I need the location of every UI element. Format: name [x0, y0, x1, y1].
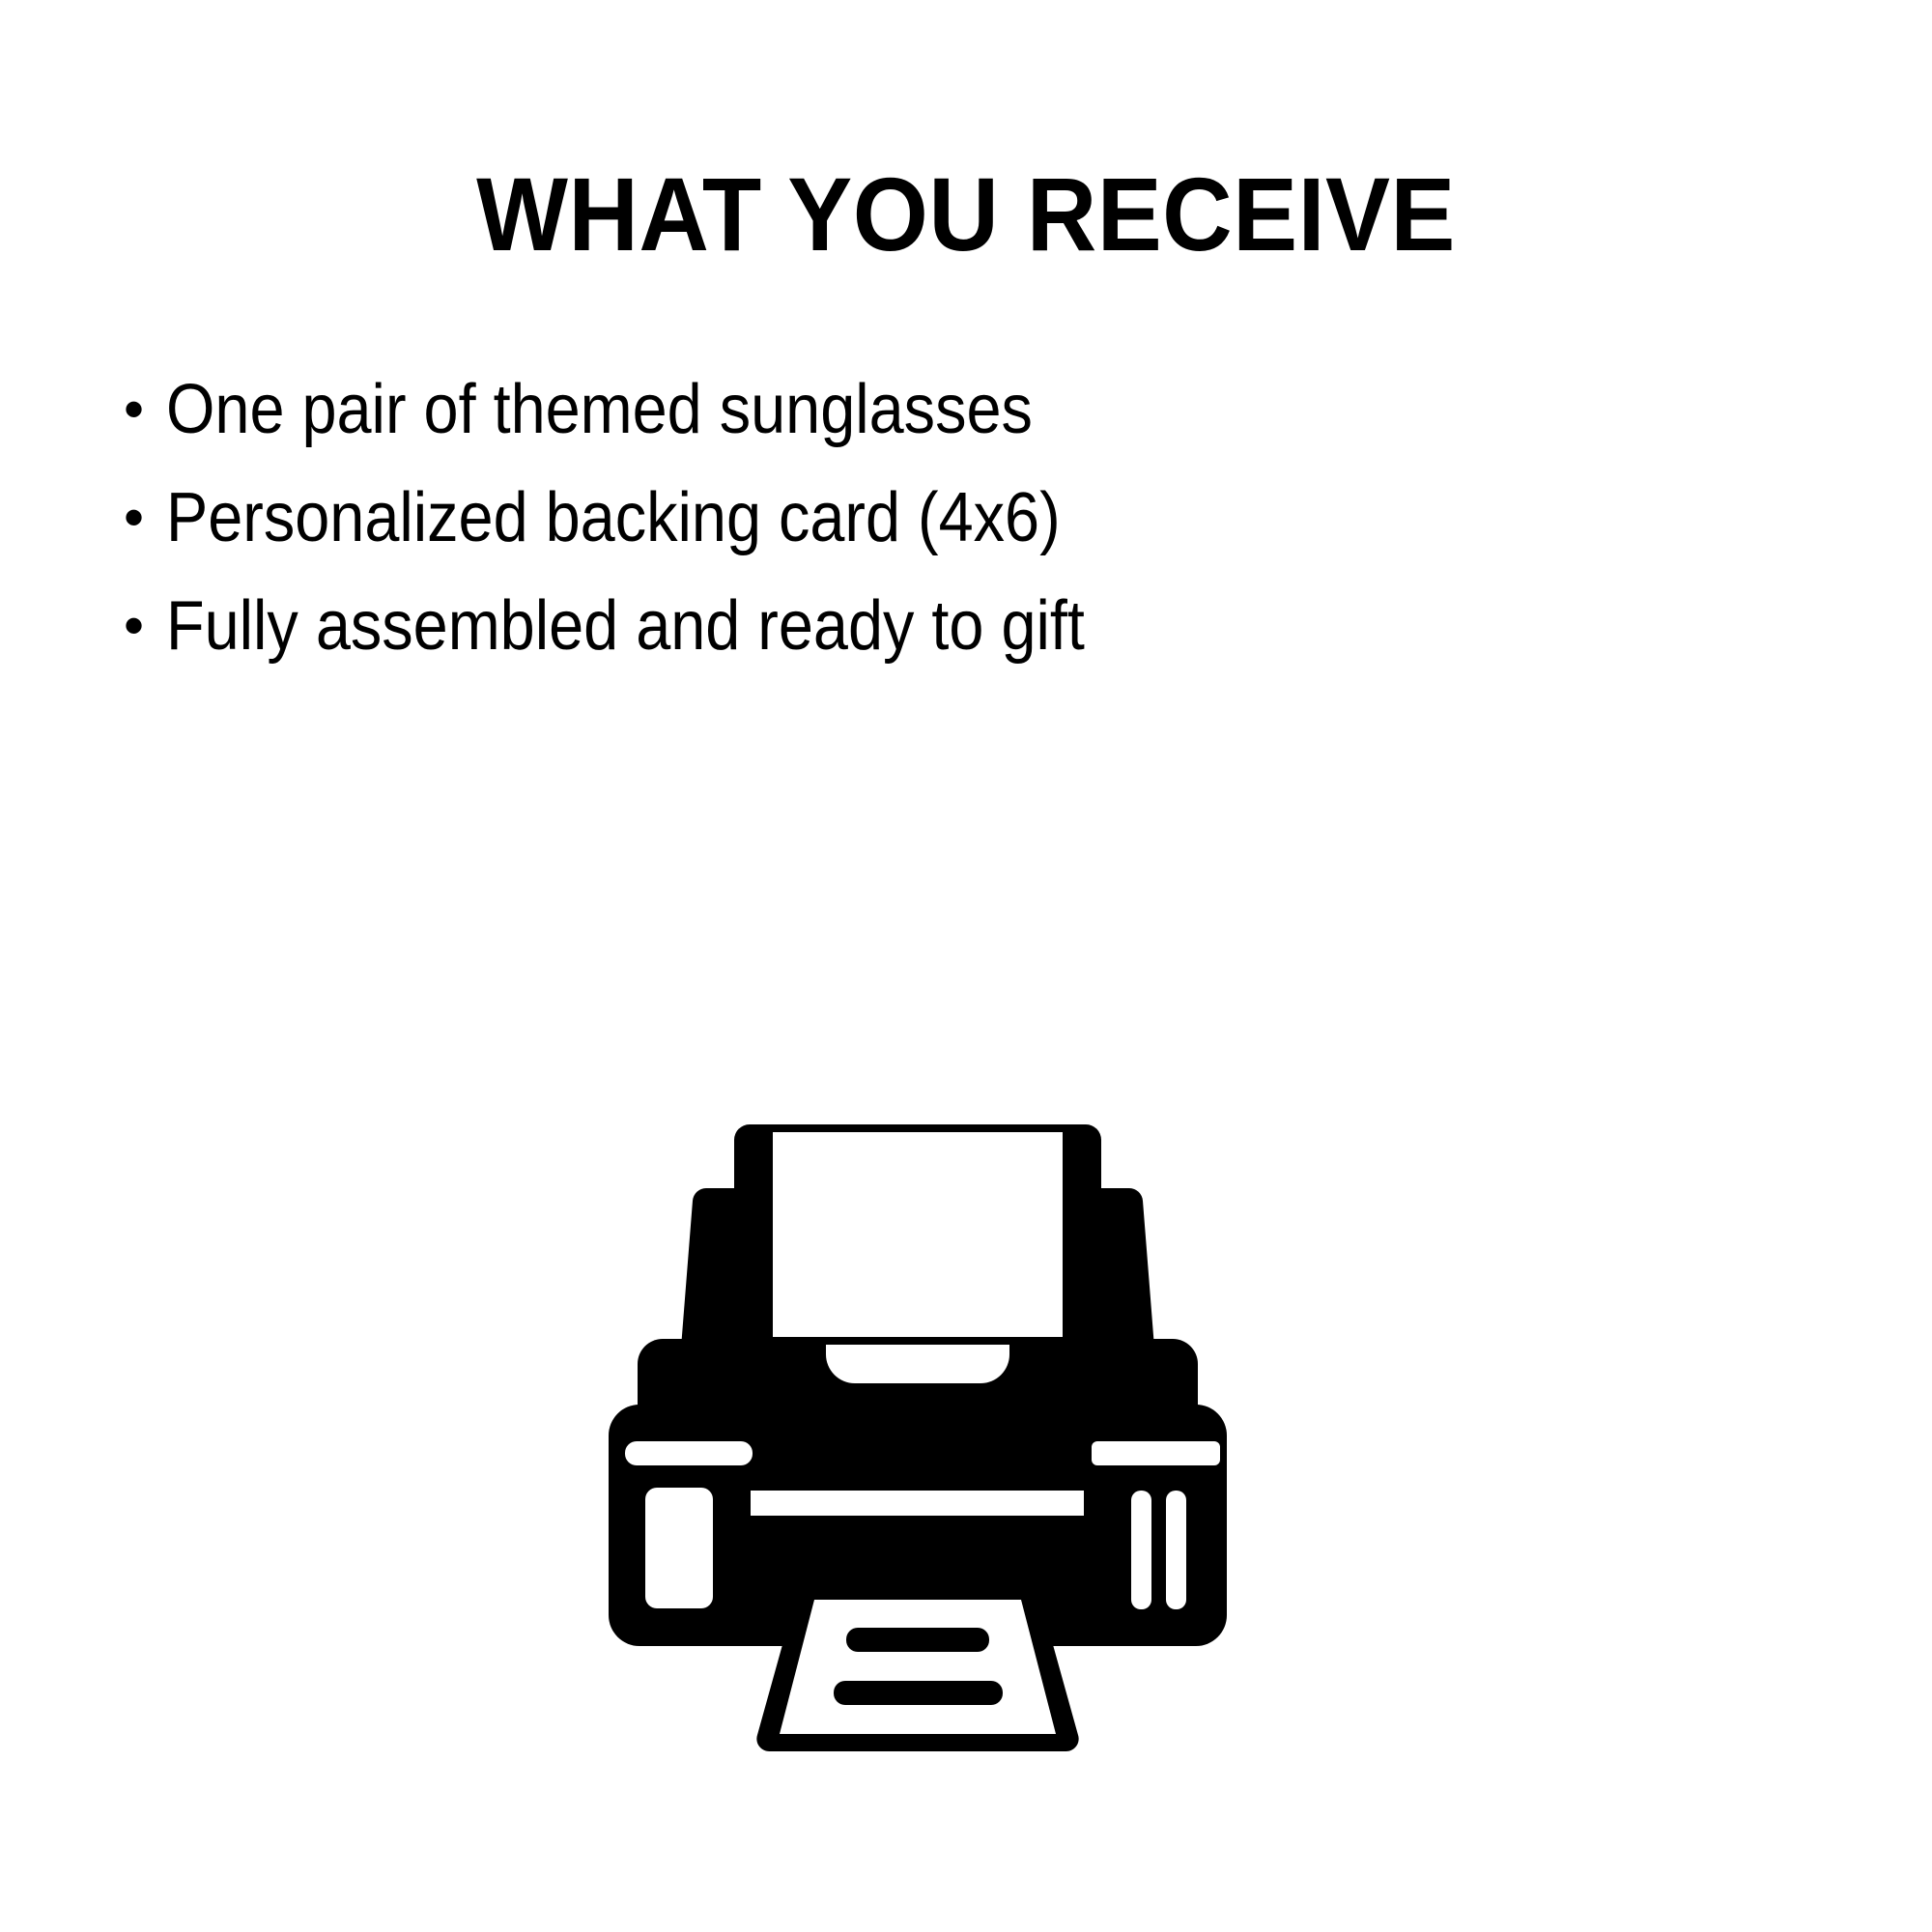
printer-illustration [580, 1082, 1256, 1758]
list-item-label: Fully assembled and ready to gift [166, 572, 1085, 680]
list-item-label: Personalized backing card (4x6) [166, 464, 1061, 572]
bullet-point-icon: • [124, 355, 166, 464]
list-item: • Personalized backing card (4x6) [124, 464, 1824, 572]
what-you-receive-list: • One pair of themed sunglasses • Person… [124, 355, 1824, 680]
bullet-point-icon: • [124, 572, 166, 680]
bullet-point-icon: • [124, 464, 166, 572]
page-title: WHAT YOU RECEIVE [68, 162, 1864, 267]
list-item: • Fully assembled and ready to gift [124, 572, 1824, 680]
page-root: WHAT YOU RECEIVE • One pair of themed su… [0, 0, 1932, 1932]
list-item-label: One pair of themed sunglasses [166, 355, 1033, 464]
list-item: • One pair of themed sunglasses [124, 355, 1824, 464]
printer-icon [580, 1082, 1256, 1758]
